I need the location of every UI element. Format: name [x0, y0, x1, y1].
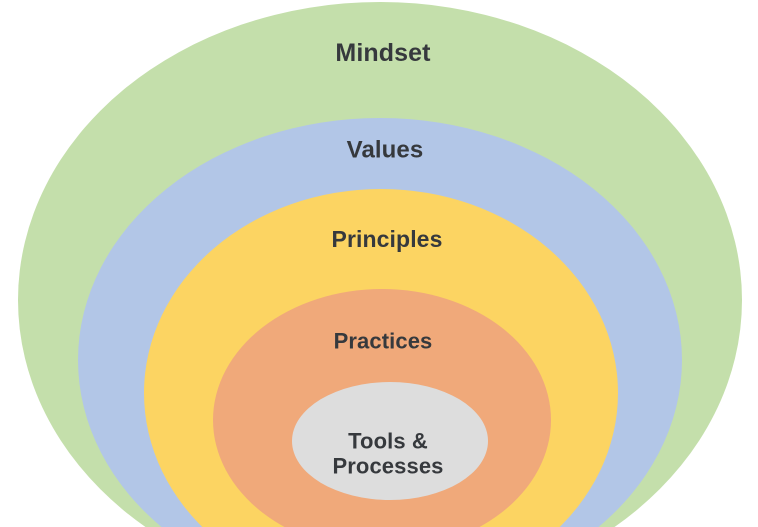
ellipse-tools-processes[interactable] [292, 382, 488, 500]
diagram-canvas [0, 0, 758, 527]
nested-ellipse-diagram: Mindset Values Principles Practices Tool… [0, 0, 758, 527]
